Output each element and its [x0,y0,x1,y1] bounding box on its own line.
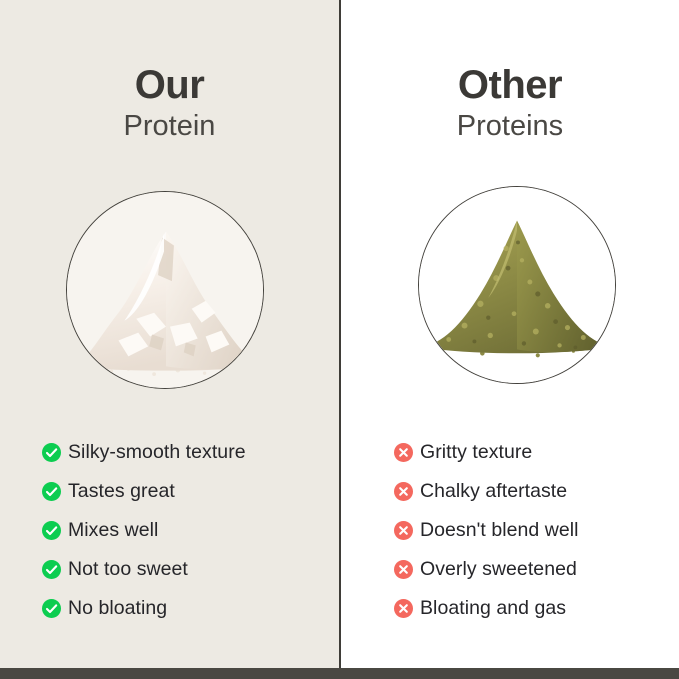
list-item: Silky-smooth texture [42,433,246,472]
other-proteins-image [418,186,616,384]
list-item: Doesn't blend well [394,511,579,550]
list-item-label: Bloating and gas [420,597,566,620]
list-item-label: Silky-smooth texture [68,441,246,464]
our-protein-heading-sub: Protein [0,108,339,144]
list-item: Tastes great [42,472,246,511]
cross-circle-icon [394,560,413,579]
check-circle-icon [42,443,61,462]
our-protein-image [66,191,264,389]
check-circle-icon [42,599,61,618]
list-item: No bloating [42,589,246,628]
our-protein-panel: Our Protein [0,0,339,668]
cross-circle-icon [394,482,413,501]
cross-circle-icon [394,443,413,462]
list-item-label: Overly sweetened [420,558,577,581]
our-protein-heading-main: Our [0,62,339,108]
our-protein-heading: Our Protein [0,62,339,144]
list-item-label: Mixes well [68,519,158,542]
list-item-label: Not too sweet [68,558,188,581]
green-powder-mound-icon [419,187,615,383]
other-proteins-heading: Other Proteins [341,62,679,144]
list-item: Overly sweetened [394,550,579,589]
panel-divider [339,0,341,668]
white-powder-mound-icon [67,192,263,388]
list-item: Not too sweet [42,550,246,589]
other-proteins-feature-list: Gritty texture Chalky aftertaste Doesn't… [394,433,579,628]
comparison-infographic: Our Protein [0,0,679,679]
check-circle-icon [42,482,61,501]
list-item: Gritty texture [394,433,579,472]
cross-circle-icon [394,521,413,540]
list-item-label: Tastes great [68,480,175,503]
cross-circle-icon [394,599,413,618]
footer-bar [0,668,679,679]
list-item: Bloating and gas [394,589,579,628]
list-item-label: No bloating [68,597,167,620]
other-proteins-heading-sub: Proteins [341,108,679,144]
list-item-label: Gritty texture [420,441,532,464]
list-item: Chalky aftertaste [394,472,579,511]
list-item: Mixes well [42,511,246,550]
list-item-label: Doesn't blend well [420,519,579,542]
list-item-label: Chalky aftertaste [420,480,567,503]
our-protein-feature-list: Silky-smooth texture Tastes great Mixes … [42,433,246,628]
check-circle-icon [42,560,61,579]
check-circle-icon [42,521,61,540]
other-proteins-heading-main: Other [341,62,679,108]
